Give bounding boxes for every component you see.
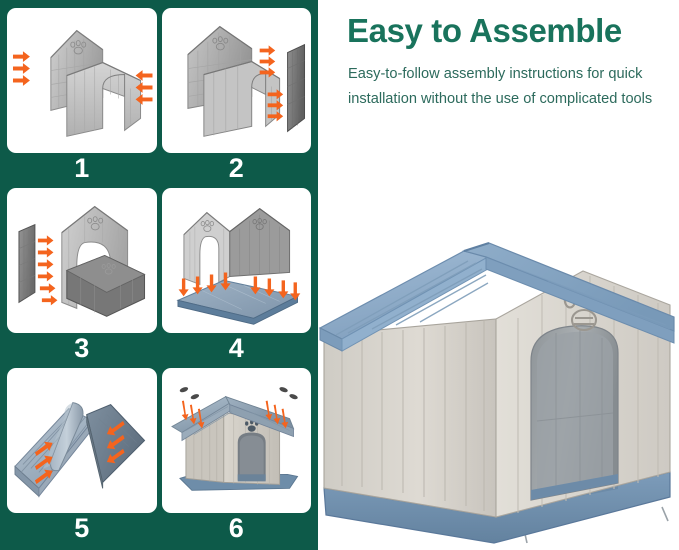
step-cell-6: 6 xyxy=(162,368,312,544)
step-2-add-side-panel-icon xyxy=(162,8,312,153)
step-number-2: 2 xyxy=(162,153,312,184)
step-number-3: 3 xyxy=(7,333,157,364)
step-cell-1: 1 xyxy=(7,8,157,184)
arrow-group-right xyxy=(136,70,153,105)
product-hero-image xyxy=(318,225,679,547)
step-card-5 xyxy=(7,368,157,513)
arrow-group-push-right xyxy=(38,235,58,305)
page-description: Easy-to-follow assembly instructions for… xyxy=(348,62,663,112)
step-number-4: 4 xyxy=(162,333,312,364)
page-title: Easy to Assemble xyxy=(347,12,667,50)
step-number-1: 1 xyxy=(7,153,157,184)
arrow-group-lower xyxy=(267,89,283,121)
step-cell-3: 3 xyxy=(7,188,157,364)
step-3-add-rear-panel-icon xyxy=(7,188,157,333)
content-pane: Easy to Assemble Easy-to-follow assembly… xyxy=(318,0,679,550)
arrow-group-upper xyxy=(259,45,275,77)
step-6-finished-house-icon xyxy=(162,368,312,513)
step-card-1 xyxy=(7,8,157,153)
step-1-two-panels-icon xyxy=(7,8,157,153)
assembly-steps-panel: 1 xyxy=(0,0,318,550)
arrow-group-left xyxy=(13,51,30,86)
step-5-roof-panels-icon xyxy=(7,368,157,513)
step-cell-2: 2 xyxy=(162,8,312,184)
step-cell-4: 4 xyxy=(162,188,312,364)
step-number-6: 6 xyxy=(162,513,312,544)
step-card-2 xyxy=(162,8,312,153)
step-4-attach-floor-icon xyxy=(162,188,312,333)
step-card-3 xyxy=(7,188,157,333)
step-number-5: 5 xyxy=(7,513,157,544)
step-card-4 xyxy=(162,188,312,333)
left-side-wall xyxy=(324,319,496,517)
step-card-6 xyxy=(162,368,312,513)
infographic-root: 1 xyxy=(0,0,679,550)
step-cell-5: 5 xyxy=(7,368,157,544)
dog-house-product-photo xyxy=(318,225,679,547)
steps-grid: 1 xyxy=(7,8,311,544)
